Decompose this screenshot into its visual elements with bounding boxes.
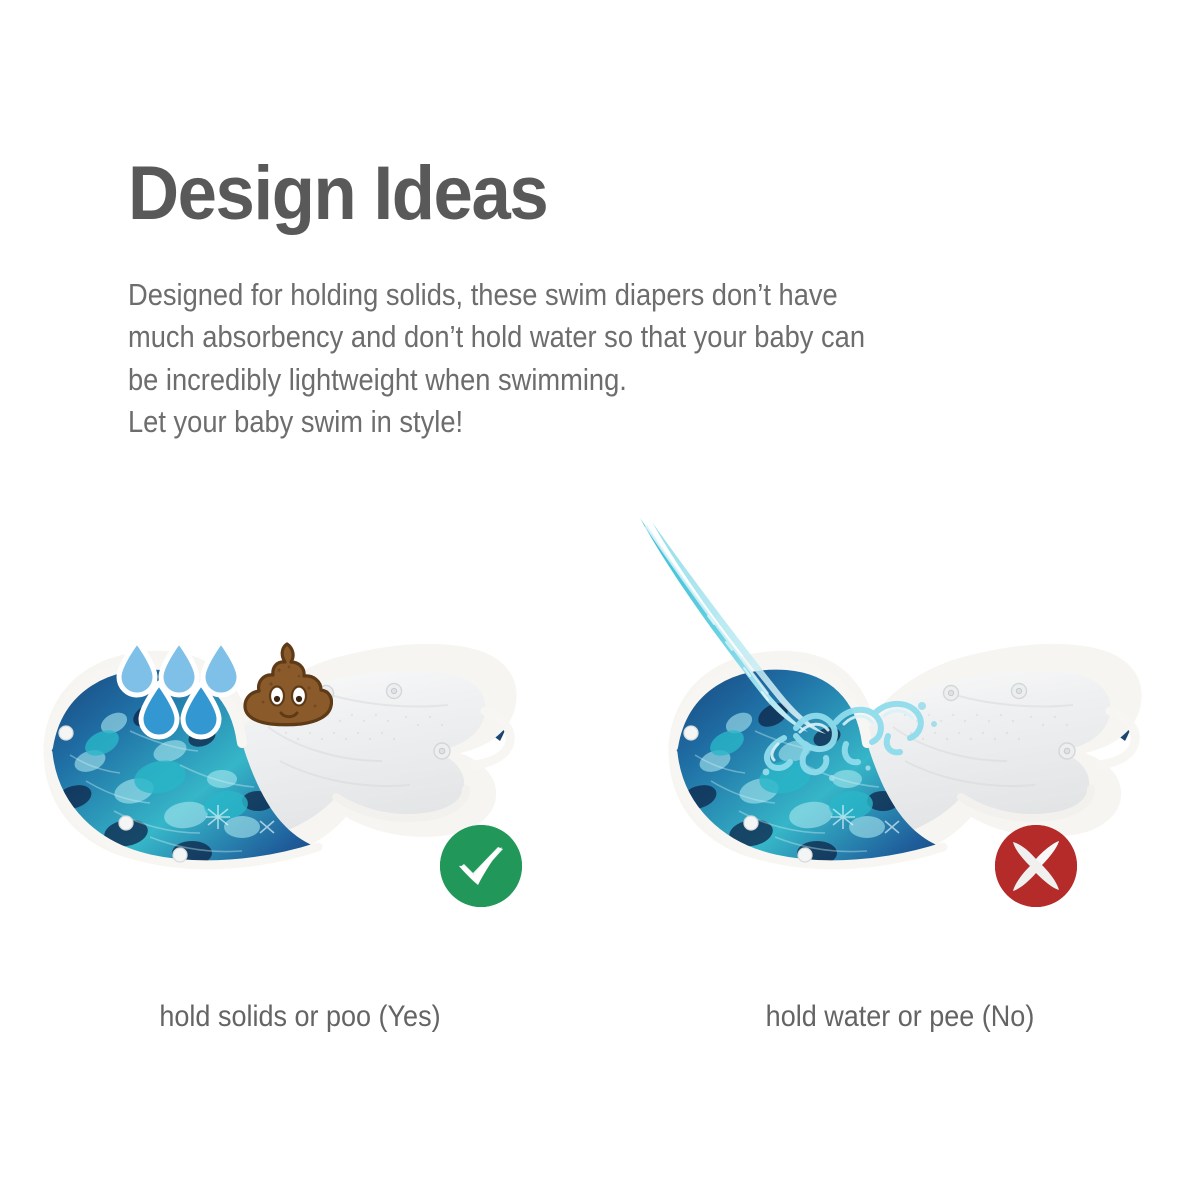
panel-holds-solids: hold solids or poo (Yes) <box>0 505 600 1085</box>
panel-holds-water: hold water or pee (No) <box>600 505 1200 1085</box>
caption-holds-water: hold water or pee (No) <box>630 1000 1170 1034</box>
product-info-graphic: Design Ideas Designed for holding solids… <box>0 0 1200 1200</box>
description-block: Designed for holding solids, these swim … <box>128 274 1140 443</box>
header: Design Ideas Designed for holding solids… <box>128 158 1128 443</box>
panel-stage-left <box>0 505 600 975</box>
description-line-2: much absorbency and don’t hold water so … <box>128 316 1140 358</box>
page-title: Design Ideas <box>128 158 1058 230</box>
comparison-panels: hold solids or poo (Yes) <box>0 505 1200 1085</box>
description-line-1: Designed for holding solids, these swim … <box>128 274 1140 316</box>
green-check-badge <box>440 825 522 907</box>
red-cross-badge <box>995 825 1077 907</box>
swim-diaper-right-image <box>655 565 1155 895</box>
caption-holds-solids: hold solids or poo (Yes) <box>30 1000 570 1034</box>
description-line-4: Let your baby swim in style! <box>128 401 1140 443</box>
panel-stage-right <box>600 505 1200 975</box>
description-line-3: be incredibly lightweight when swimming. <box>128 359 1140 401</box>
poo-emoji-icon <box>243 640 333 732</box>
